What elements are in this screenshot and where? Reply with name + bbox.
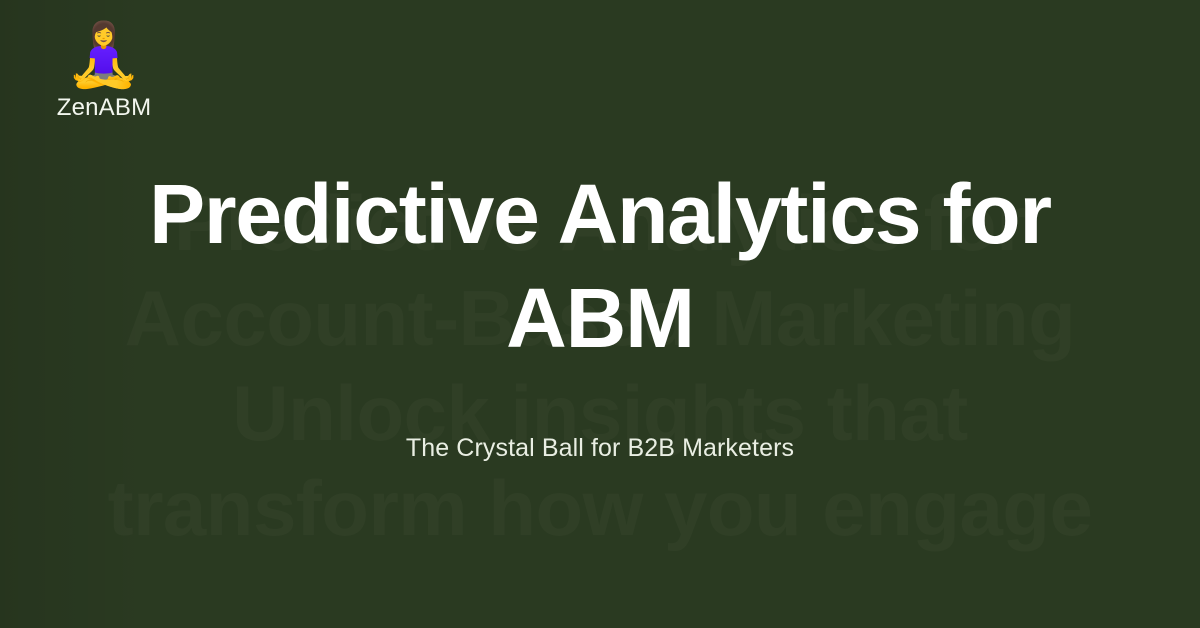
page-title: Predictive Analytics for ABM xyxy=(65,162,1135,370)
headline-stage: Predictive Analytics for ABM The Crystal… xyxy=(0,0,1200,628)
title-slide: Predictive Analytics for Account-Based M… xyxy=(0,0,1200,628)
page-subtitle: The Crystal Ball for B2B Marketers xyxy=(406,432,794,466)
